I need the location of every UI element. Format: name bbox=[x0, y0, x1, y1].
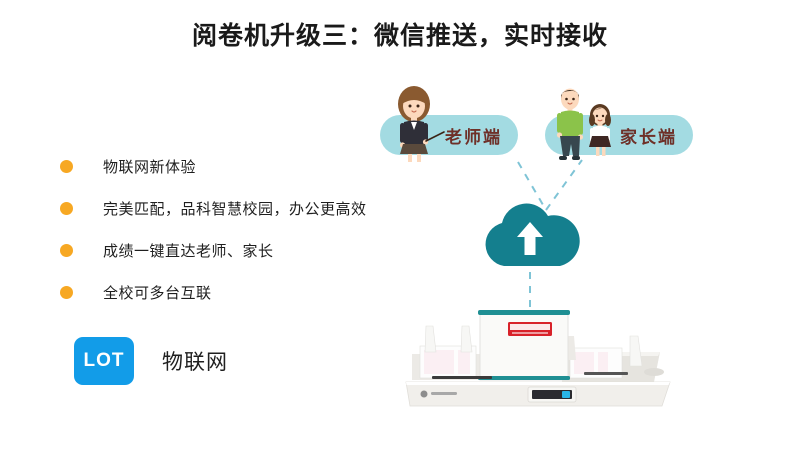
bullet-dot-icon bbox=[60, 202, 73, 215]
list-item-label: 成绩一键直达老师、家长 bbox=[103, 240, 274, 261]
iot-label: 物联网 bbox=[162, 346, 228, 376]
teacher-endpoint-label: 老师端 bbox=[445, 123, 502, 148]
list-item-label: 完美匹配，品科智慧校园，办公更高效 bbox=[103, 198, 367, 219]
cloud-upload-icon bbox=[478, 200, 582, 272]
parent-and-child-illustration bbox=[548, 82, 628, 162]
iot-badge-block: LOT 物联网 bbox=[74, 337, 228, 385]
bullet-dot-icon bbox=[60, 160, 73, 173]
machine-illustration bbox=[402, 302, 702, 422]
cloud-shape bbox=[478, 200, 582, 272]
parent-endpoint-label: 家长端 bbox=[620, 123, 677, 148]
slide-canvas: 阅卷机升级三：微信推送，实时接收 物联网新体验 完美匹配，品科智慧校园，办公更高… bbox=[0, 0, 800, 462]
list-item-label: 物联网新体验 bbox=[103, 156, 196, 177]
exam-marking-machine bbox=[402, 302, 702, 422]
iot-diagram: 老师端 bbox=[350, 70, 790, 450]
teacher-illustration bbox=[384, 84, 448, 162]
bullet-dot-icon bbox=[60, 286, 73, 299]
list-item-label: 全校可多台互联 bbox=[103, 282, 212, 303]
lot-badge: LOT bbox=[74, 337, 134, 385]
page-title: 阅卷机升级三：微信推送，实时接收 bbox=[0, 16, 800, 52]
bullet-dot-icon bbox=[60, 244, 73, 257]
